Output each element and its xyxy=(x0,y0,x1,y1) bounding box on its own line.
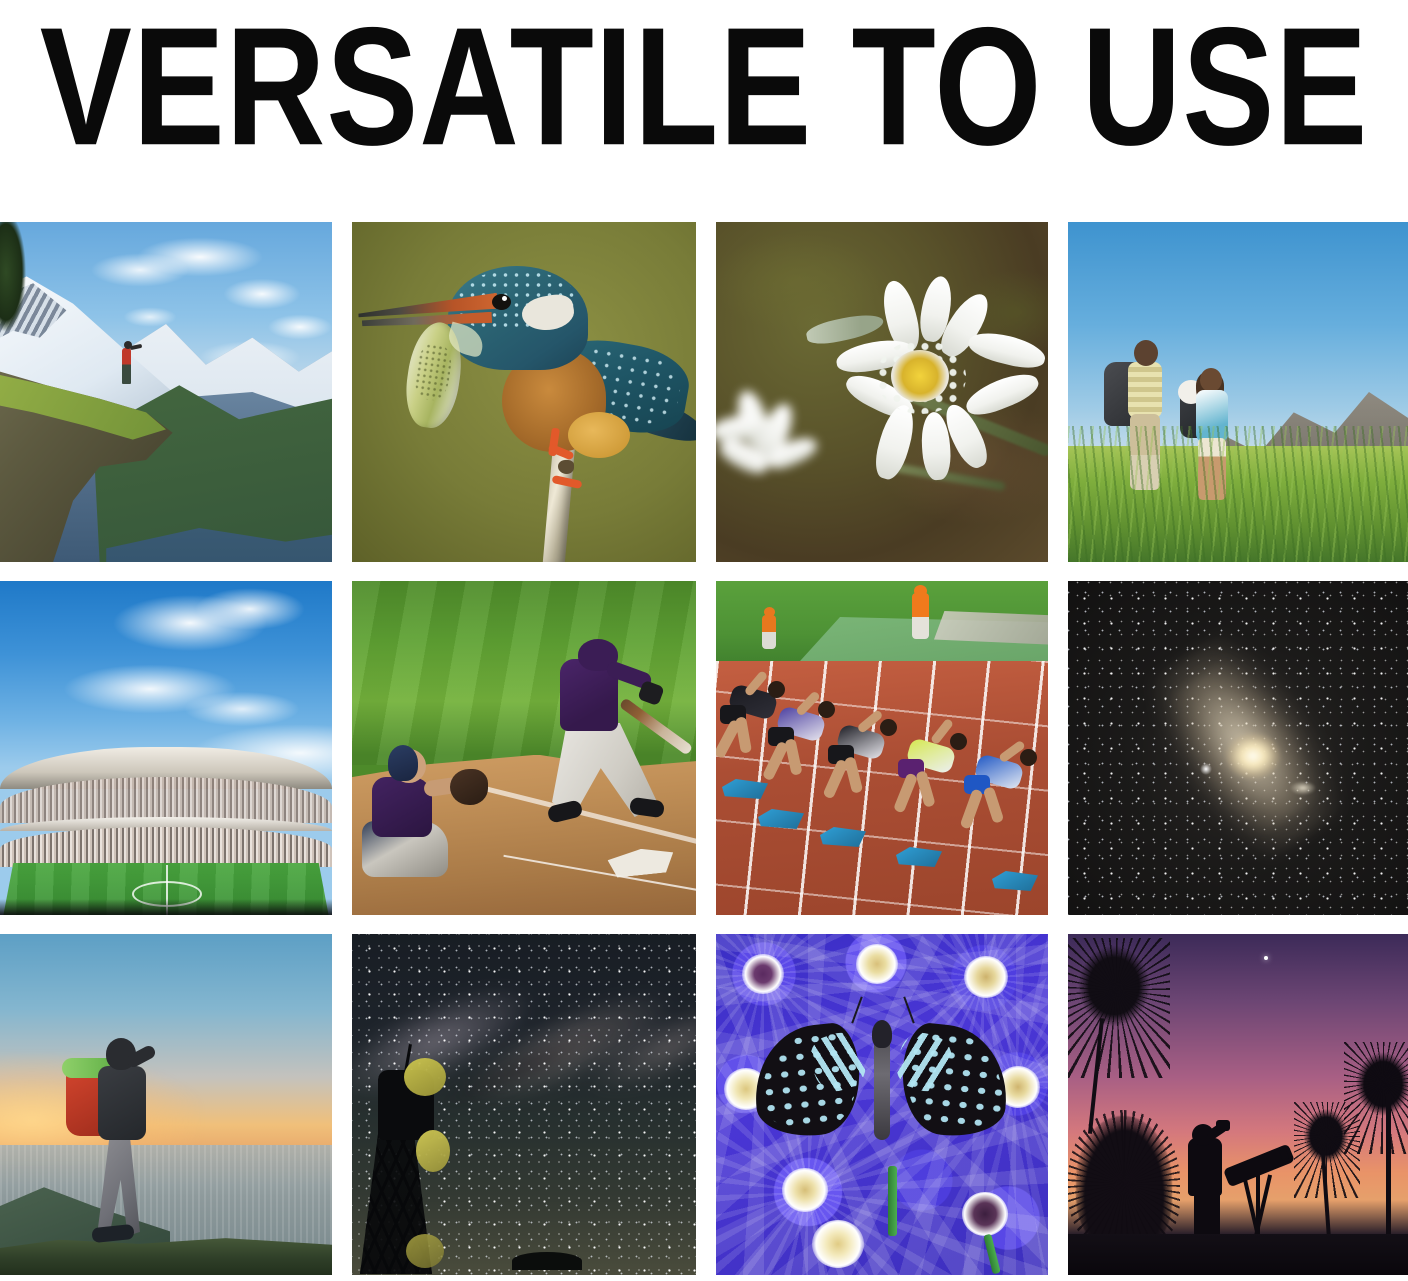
page-title: VERSATILE TO USE xyxy=(40,2,1368,170)
hiker-male-head xyxy=(1134,340,1158,366)
poster-canvas: VERSATILE TO USE xyxy=(0,0,1408,1281)
tree-foliage-left xyxy=(1068,938,1170,1078)
official-seated-head xyxy=(764,607,775,617)
flower-center xyxy=(891,350,949,402)
image-grid xyxy=(0,222,1408,1281)
daisy-center-8 xyxy=(812,1220,864,1268)
gallery-tile-astronomer-telescope-dusk[interactable] xyxy=(1068,934,1408,1275)
foreground-ground xyxy=(1068,1234,1408,1275)
horizon-mound xyxy=(512,1252,582,1270)
background-flower xyxy=(716,382,836,502)
bush-foliage xyxy=(1068,1110,1180,1252)
satellite-galaxy xyxy=(1290,781,1316,795)
lower-stands xyxy=(0,827,332,867)
gallery-tile-baseball-batter-swing[interactable] xyxy=(352,581,696,915)
daisy-center-1 xyxy=(742,954,784,994)
hiker-female-head xyxy=(1200,368,1222,392)
foreground-tree xyxy=(0,222,30,342)
gallery-tile-radio-tower-milky-way[interactable] xyxy=(352,934,696,1275)
tree-trunk-far-right xyxy=(1386,1094,1391,1242)
daisy-center-6 xyxy=(782,1168,828,1212)
gallery-tile-edelweiss-flower[interactable] xyxy=(716,222,1048,562)
gallery-tile-blue-tiger-butterfly[interactable] xyxy=(716,934,1048,1275)
hiker-male-torso xyxy=(1128,362,1162,418)
official-standing-body xyxy=(912,593,929,639)
eye-glint xyxy=(502,296,507,301)
dish-antenna-lower xyxy=(406,1234,444,1268)
evening-star xyxy=(1264,956,1268,960)
tripod-leg-center xyxy=(1256,1174,1260,1240)
dish-antenna-upper xyxy=(404,1058,446,1096)
dish-antenna-middle xyxy=(416,1130,450,1172)
hiker-torso xyxy=(98,1066,146,1140)
daisy-center-3 xyxy=(964,956,1008,998)
official-standing-head xyxy=(914,585,927,597)
gallery-tile-andromeda-galaxy[interactable] xyxy=(1068,581,1408,915)
galaxy-core xyxy=(1226,733,1280,779)
gallery-tile-kingfisher-with-fish[interactable] xyxy=(352,222,696,562)
hiker-torso xyxy=(122,348,131,384)
gallery-tile-sunset-hiker-binoculars[interactable] xyxy=(0,934,332,1275)
foreground-grass-blades xyxy=(1068,426,1408,562)
catcher-torso xyxy=(372,777,432,837)
binoculars-icon xyxy=(1216,1120,1230,1131)
daisy-center-2 xyxy=(856,944,898,984)
branch-knot xyxy=(558,460,574,474)
butterfly-thorax xyxy=(872,1020,892,1048)
gallery-tile-alpine-hikers-meadow[interactable] xyxy=(1068,222,1408,562)
observer-torso xyxy=(1188,1138,1222,1196)
catcher-mitt xyxy=(450,769,488,805)
official-seated-body xyxy=(762,615,776,649)
gallery-tile-soccer-stadium-crowd[interactable] xyxy=(0,581,332,915)
companion-star xyxy=(1200,763,1212,775)
daisy-center-7 xyxy=(962,1192,1008,1236)
gallery-tile-cliff-hiker-fjord[interactable] xyxy=(0,222,332,562)
foreground-crowd xyxy=(0,899,332,915)
flower-stem-1 xyxy=(888,1166,897,1236)
bird-belly xyxy=(568,412,630,458)
gallery-tile-sprinters-starting-blocks[interactable] xyxy=(716,581,1048,915)
title-bar: VERSATILE TO USE xyxy=(0,0,1408,200)
landing-mat xyxy=(934,611,1048,645)
catcher-mask-icon xyxy=(388,745,418,781)
